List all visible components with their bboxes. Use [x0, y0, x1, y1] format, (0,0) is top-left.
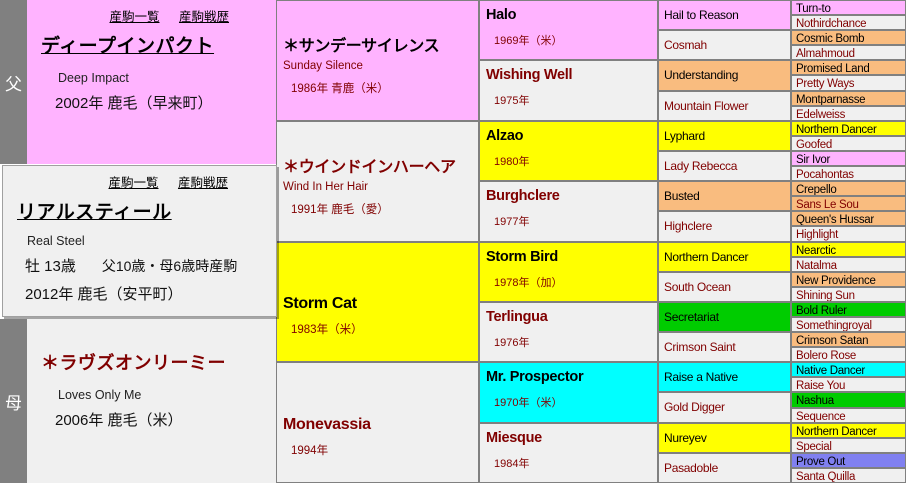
- gen5-cell[interactable]: Northern Dancer: [791, 423, 906, 438]
- gen5-name[interactable]: Somethingroyal: [796, 320, 905, 332]
- gen5-cell[interactable]: Santa Quilla: [791, 468, 906, 483]
- gen4-cell[interactable]: Gold Digger: [658, 392, 791, 422]
- gen3-birth: 1975年: [494, 92, 657, 108]
- gen5-cell[interactable]: Prove Out: [791, 453, 906, 468]
- pedigree-chart: 父 産駒一覧 産駒戦歴 ディープインパクト Deep Impact 2002年 …: [0, 0, 906, 483]
- gen3-name[interactable]: Halo: [486, 7, 657, 23]
- gen4-name[interactable]: Nureyev: [664, 431, 790, 445]
- gen5-cell[interactable]: Highlight: [791, 226, 906, 241]
- gen5-cell[interactable]: Raise You: [791, 377, 906, 392]
- subject-foals-link[interactable]: 産駒一覧: [108, 176, 158, 190]
- subject-sex-age: 牡 13歳父10歳・母6歳時産駒: [25, 255, 266, 276]
- gen5-name[interactable]: Crepello: [796, 184, 905, 196]
- gen3-cell[interactable]: Mr. Prospector1970年（米）: [479, 362, 658, 422]
- gen5-name[interactable]: Nothirdchance: [796, 18, 905, 30]
- gen3-name[interactable]: Wishing Well: [486, 67, 657, 83]
- gen2-name[interactable]: ＊ウインドインハーヘア: [283, 153, 478, 177]
- gen5-name[interactable]: Highlight: [796, 229, 905, 241]
- gen5-cell[interactable]: Pocahontas: [791, 166, 906, 181]
- gen5-name[interactable]: Shining Sun: [796, 290, 905, 302]
- gen2-name-en: Sunday Silence: [283, 60, 478, 72]
- gen4-name[interactable]: Cosmah: [664, 38, 790, 52]
- gen5-name[interactable]: Santa Quilla: [796, 471, 905, 483]
- gen2-birth: 1994年: [291, 442, 478, 458]
- gen3-birth: 1976年: [494, 334, 657, 350]
- gen5-name[interactable]: Goofed: [796, 139, 905, 151]
- gen5-name[interactable]: Bolero Rose: [796, 350, 905, 362]
- gen5-cell[interactable]: Almahmoud: [791, 45, 906, 60]
- gen2-name-en: Wind In Her Hair: [283, 181, 478, 193]
- gen4-cell[interactable]: Raise a Native: [658, 362, 791, 392]
- gen5-name[interactable]: Raise You: [796, 380, 905, 392]
- gen5-cell[interactable]: Edelweiss: [791, 106, 906, 121]
- dam-name-ja[interactable]: ＊ラヴズオンリーミー: [41, 349, 267, 375]
- dam-label-bar: 母: [0, 319, 27, 483]
- gen3-birth: 1978年（加）: [494, 274, 657, 290]
- gen3-birth: 1969年（米）: [494, 32, 657, 48]
- gen4-cell[interactable]: Nureyev: [658, 423, 791, 453]
- gen5-cell[interactable]: Crimson Satan: [791, 332, 906, 347]
- gen5-name[interactable]: Nashua: [796, 395, 905, 407]
- gen3-birth: 1970年（米）: [494, 394, 657, 410]
- sire-name-ja[interactable]: ディープインパクト: [41, 31, 267, 58]
- gen3-name[interactable]: Mr. Prospector: [486, 369, 657, 385]
- gen4-cell[interactable]: Highclere: [658, 211, 791, 241]
- gen3-birth: 1977年: [494, 213, 657, 229]
- gen5-cell[interactable]: Bolero Rose: [791, 347, 906, 362]
- gen4-cell[interactable]: Pasadoble: [658, 453, 791, 483]
- gen3-cell[interactable]: Alzao1980年: [479, 121, 658, 181]
- gen4-name[interactable]: Pasadoble: [664, 461, 790, 475]
- gen5-name[interactable]: Native Dancer: [796, 365, 905, 377]
- gen5-name[interactable]: Promised Land: [796, 63, 905, 75]
- subject-links: 産駒一覧 産駒戦歴: [13, 170, 266, 191]
- gen5-cell[interactable]: Sans Le Sou: [791, 196, 906, 211]
- gen3-cell[interactable]: Storm Bird1978年（加）: [479, 242, 658, 302]
- gen4-cell[interactable]: Cosmah: [658, 30, 791, 60]
- gen3-cell[interactable]: Burghclere1977年: [479, 181, 658, 241]
- gen4-name[interactable]: Secretariat: [664, 310, 790, 324]
- subject-record-link[interactable]: 産駒戦歴: [178, 176, 228, 190]
- gen4-name[interactable]: South Ocean: [664, 280, 790, 294]
- gen5-name[interactable]: Northern Dancer: [796, 426, 905, 438]
- gen3-birth: 1984年: [494, 455, 657, 471]
- gen5-cell[interactable]: Turn-to: [791, 0, 906, 15]
- gen4-cell[interactable]: Understanding: [658, 60, 791, 90]
- gen5-cell[interactable]: Queen's Hussar: [791, 211, 906, 226]
- gen4-name[interactable]: Crimson Saint: [664, 340, 790, 354]
- gen2-name[interactable]: Storm Cat: [283, 295, 478, 313]
- gen3-cell[interactable]: Wishing Well1975年: [479, 60, 658, 120]
- gen5-cell[interactable]: Pretty Ways: [791, 75, 906, 90]
- gen4-name[interactable]: Busted: [664, 189, 790, 203]
- subject-body: 産駒一覧 産駒戦歴 リアルスティール Real Steel 牡 13歳父10歳・…: [3, 166, 276, 316]
- gen4-name[interactable]: Northern Dancer: [664, 250, 790, 264]
- gen5-name[interactable]: Crimson Satan: [796, 335, 905, 347]
- gen5-cell[interactable]: Nearctic: [791, 242, 906, 257]
- gen2-cell[interactable]: ＊ウインドインハーヘアWind In Her Hair1991年 鹿毛（愛）: [276, 121, 479, 242]
- gen4-cell[interactable]: Northern Dancer: [658, 242, 791, 272]
- gen5-name[interactable]: Cosmic Bomb: [796, 33, 905, 45]
- gen5-cell[interactable]: Sir Ivor: [791, 151, 906, 166]
- gen2-cell[interactable]: ＊サンデーサイレンスSunday Silence1986年 青鹿（米）: [276, 0, 479, 121]
- gen4-name[interactable]: Gold Digger: [664, 400, 790, 414]
- gen5-cell[interactable]: Cosmic Bomb: [791, 30, 906, 45]
- gen5-cell[interactable]: Shining Sun: [791, 287, 906, 302]
- gen3-cell[interactable]: Halo1969年（米）: [479, 0, 658, 60]
- subject-birth: 2012年 鹿毛（安平町）: [25, 283, 266, 304]
- gen5-cell[interactable]: Montparnasse: [791, 91, 906, 106]
- gen5-name[interactable]: New Providence: [796, 275, 905, 287]
- gen5-name[interactable]: Pocahontas: [796, 169, 905, 181]
- gen4-cell[interactable]: South Ocean: [658, 272, 791, 302]
- gen3-name[interactable]: Miesque: [486, 430, 657, 446]
- gen2-birth: 1991年 鹿毛（愛）: [291, 201, 478, 217]
- gen4-cell[interactable]: Mountain Flower: [658, 91, 791, 121]
- gen5-cell[interactable]: New Providence: [791, 272, 906, 287]
- gen4-name[interactable]: Understanding: [664, 68, 790, 82]
- subject-name-ja[interactable]: リアルスティール: [17, 197, 266, 224]
- sire-body: 産駒一覧 産駒戦歴 ディープインパクト Deep Impact 2002年 鹿毛…: [27, 0, 277, 164]
- gen5-name[interactable]: Bold Ruler: [796, 305, 905, 317]
- gen4-name[interactable]: Hail to Reason: [664, 8, 790, 22]
- gen5-cell[interactable]: Nashua: [791, 392, 906, 407]
- sire-name-en: Deep Impact: [58, 71, 267, 85]
- gen3-birth: 1980年: [494, 153, 657, 169]
- dam-birth: 2006年 鹿毛（米）: [55, 409, 267, 430]
- gen4-cell[interactable]: Lyphard: [658, 121, 791, 151]
- subject-age-note: 父10歳・母6歳時産駒: [102, 258, 237, 274]
- gen5-cell[interactable]: Sequence: [791, 408, 906, 423]
- gen4-cell[interactable]: Secretariat: [658, 302, 791, 332]
- gen4-name[interactable]: Lyphard: [664, 129, 790, 143]
- gen5-cell[interactable]: Goofed: [791, 136, 906, 151]
- gen2-cell[interactable]: Monevassia1994年: [276, 362, 479, 483]
- gen5-cell[interactable]: Nothirdchance: [791, 15, 906, 30]
- gen4-cell[interactable]: Crimson Saint: [658, 332, 791, 362]
- gen5-cell[interactable]: Somethingroyal: [791, 317, 906, 332]
- gen5-name[interactable]: Montparnasse: [796, 94, 905, 106]
- sire-label-bar: 父: [0, 0, 27, 164]
- gen5-name[interactable]: Sequence: [796, 411, 905, 423]
- gen5-cell[interactable]: Special: [791, 438, 906, 453]
- gen4-cell[interactable]: Lady Rebecca: [658, 151, 791, 181]
- gen5-cell[interactable]: Native Dancer: [791, 362, 906, 377]
- gen5-name[interactable]: Queen's Hussar: [796, 214, 905, 226]
- gen5-name[interactable]: Nearctic: [796, 245, 905, 257]
- gen3-name[interactable]: Storm Bird: [486, 249, 657, 265]
- gen3-cell[interactable]: Terlingua1976年: [479, 302, 658, 362]
- gen2-cell[interactable]: Storm Cat1983年（米）: [276, 242, 479, 363]
- gen5-cell[interactable]: Crepello: [791, 181, 906, 196]
- dam-body: ＊ラヴズオンリーミー Loves Only Me 2006年 鹿毛（米）: [27, 319, 277, 483]
- gen5-name[interactable]: Almahmoud: [796, 48, 905, 60]
- gen3-name[interactable]: Terlingua: [486, 309, 657, 325]
- gen2-birth: 1983年（米）: [291, 321, 478, 337]
- dam-panel: 母 ＊ラヴズオンリーミー Loves Only Me 2006年 鹿毛（米）: [0, 319, 277, 483]
- gen2-birth: 1986年 青鹿（米）: [291, 80, 478, 96]
- gen5-name[interactable]: Sans Le Sou: [796, 199, 905, 211]
- gen4-name[interactable]: Mountain Flower: [664, 99, 790, 113]
- gen5-name[interactable]: Turn-to: [796, 3, 905, 15]
- gen5-cell[interactable]: Promised Land: [791, 60, 906, 75]
- gen4-cell[interactable]: Busted: [658, 181, 791, 211]
- gen4-name[interactable]: Lady Rebecca: [664, 159, 790, 173]
- sire-links: 産駒一覧 産駒戦歴: [41, 4, 267, 25]
- gen5-name[interactable]: Special: [796, 441, 905, 453]
- gen2-name[interactable]: ＊サンデーサイレンス: [283, 32, 478, 56]
- gen3-name[interactable]: Burghclere: [486, 188, 657, 204]
- gen5-name[interactable]: Prove Out: [796, 456, 905, 468]
- subject-name-en: Real Steel: [27, 234, 266, 248]
- dam-label: 母: [5, 389, 22, 414]
- gen5-cell[interactable]: Bold Ruler: [791, 302, 906, 317]
- subject-panel: 産駒一覧 産駒戦歴 リアルスティール Real Steel 牡 13歳父10歳・…: [2, 165, 277, 317]
- sire-foals-link[interactable]: 産駒一覧: [109, 10, 159, 24]
- sire-panel: 父 産駒一覧 産駒戦歴 ディープインパクト Deep Impact 2002年 …: [0, 0, 277, 164]
- gen3-cell[interactable]: Miesque1984年: [479, 423, 658, 483]
- dam-name-en: Loves Only Me: [58, 388, 267, 402]
- gen5-name[interactable]: Pretty Ways: [796, 78, 905, 90]
- subject-sex-age-value: 牡 13歳: [25, 258, 76, 275]
- gen5-name[interactable]: Natalma: [796, 260, 905, 272]
- sire-birth: 2002年 鹿毛（早来町）: [55, 92, 267, 113]
- gen5-name[interactable]: Sir Ivor: [796, 154, 905, 166]
- gen4-cell[interactable]: Hail to Reason: [658, 0, 791, 30]
- gen5-name[interactable]: Edelweiss: [796, 109, 905, 121]
- sire-record-link[interactable]: 産駒戦歴: [179, 10, 229, 24]
- gen5-cell[interactable]: Natalma: [791, 257, 906, 272]
- gen4-name[interactable]: Raise a Native: [664, 370, 790, 384]
- sire-label: 父: [5, 70, 22, 95]
- gen3-name[interactable]: Alzao: [486, 128, 657, 144]
- gen5-name[interactable]: Northern Dancer: [796, 124, 905, 136]
- gen2-name[interactable]: Monevassia: [283, 416, 478, 434]
- gen5-cell[interactable]: Northern Dancer: [791, 121, 906, 136]
- gen4-name[interactable]: Highclere: [664, 219, 790, 233]
